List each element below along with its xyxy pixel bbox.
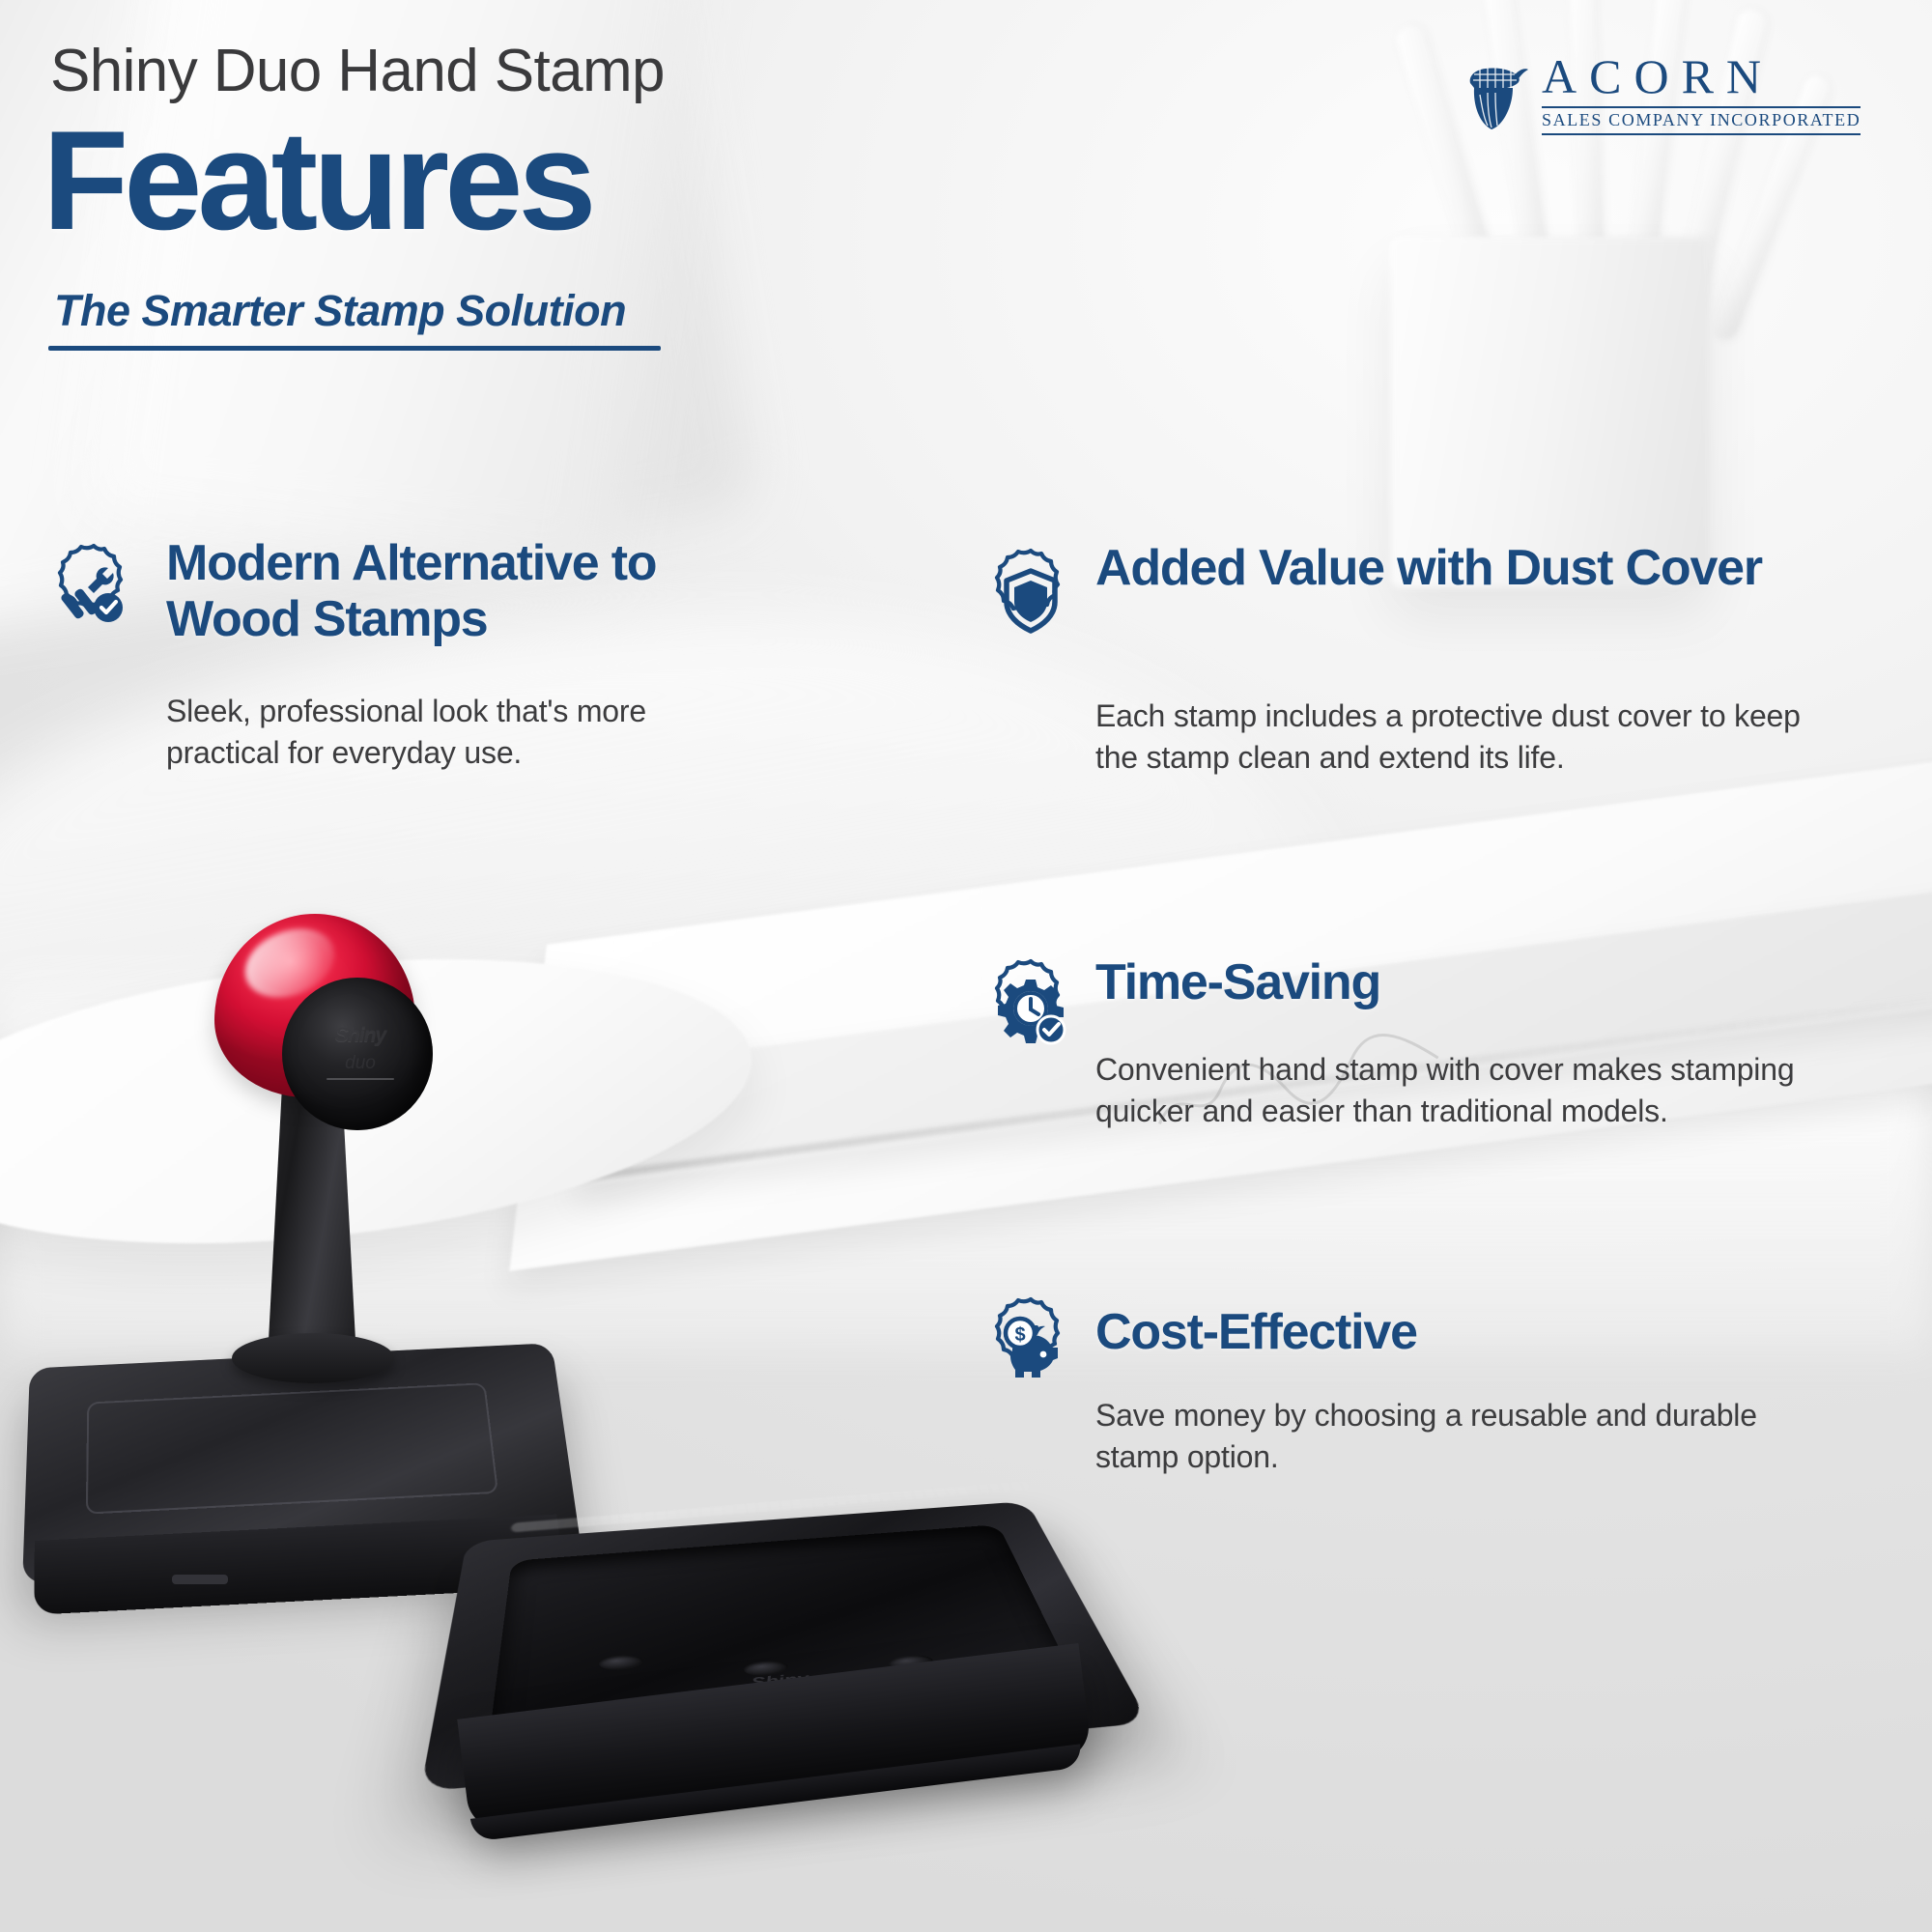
feature-title: Cost-Effective bbox=[1095, 1304, 1830, 1360]
page-title: Features bbox=[43, 110, 592, 251]
feature-body: Save money by choosing a reusable and du… bbox=[1095, 1395, 1810, 1478]
gear-clock-check-badge-icon bbox=[978, 956, 1084, 1063]
feature-body: Each stamp includes a protective dust co… bbox=[1095, 696, 1801, 779]
acorn-icon bbox=[1461, 58, 1536, 133]
wrench-check-badge-icon bbox=[41, 541, 147, 647]
subtitle-underline bbox=[48, 346, 661, 351]
logo-rule-bottom bbox=[1542, 133, 1861, 135]
logo-tagline: SALES COMPANY INCORPORATED bbox=[1542, 110, 1861, 130]
feature-title: Modern Alternative to Wood Stamps bbox=[166, 535, 784, 647]
feature-body: Convenient hand stamp with cover makes s… bbox=[1095, 1049, 1810, 1132]
logo-wordmark: ACORN bbox=[1542, 52, 1774, 100]
logo-rule-top bbox=[1542, 106, 1861, 108]
content-layer: Shiny Duo Hand Stamp Features The Smarte… bbox=[0, 0, 1932, 1932]
shield-badge-icon bbox=[978, 546, 1084, 652]
piggy-bank-coin-badge-icon: $ bbox=[978, 1294, 1084, 1401]
page-kicker: Shiny Duo Hand Stamp bbox=[50, 37, 665, 105]
feature-body: Sleek, professional look that's more pra… bbox=[166, 691, 765, 774]
brand-logo: ACORN SALES COMPANY INCORPORATED bbox=[1461, 50, 1866, 133]
feature-title: Added Value with Dust Cover bbox=[1095, 540, 1830, 596]
svg-text:$: $ bbox=[1014, 1324, 1025, 1346]
page-subtitle: The Smarter Stamp Solution bbox=[54, 286, 626, 336]
feature-title: Time-Saving bbox=[1095, 954, 1830, 1010]
